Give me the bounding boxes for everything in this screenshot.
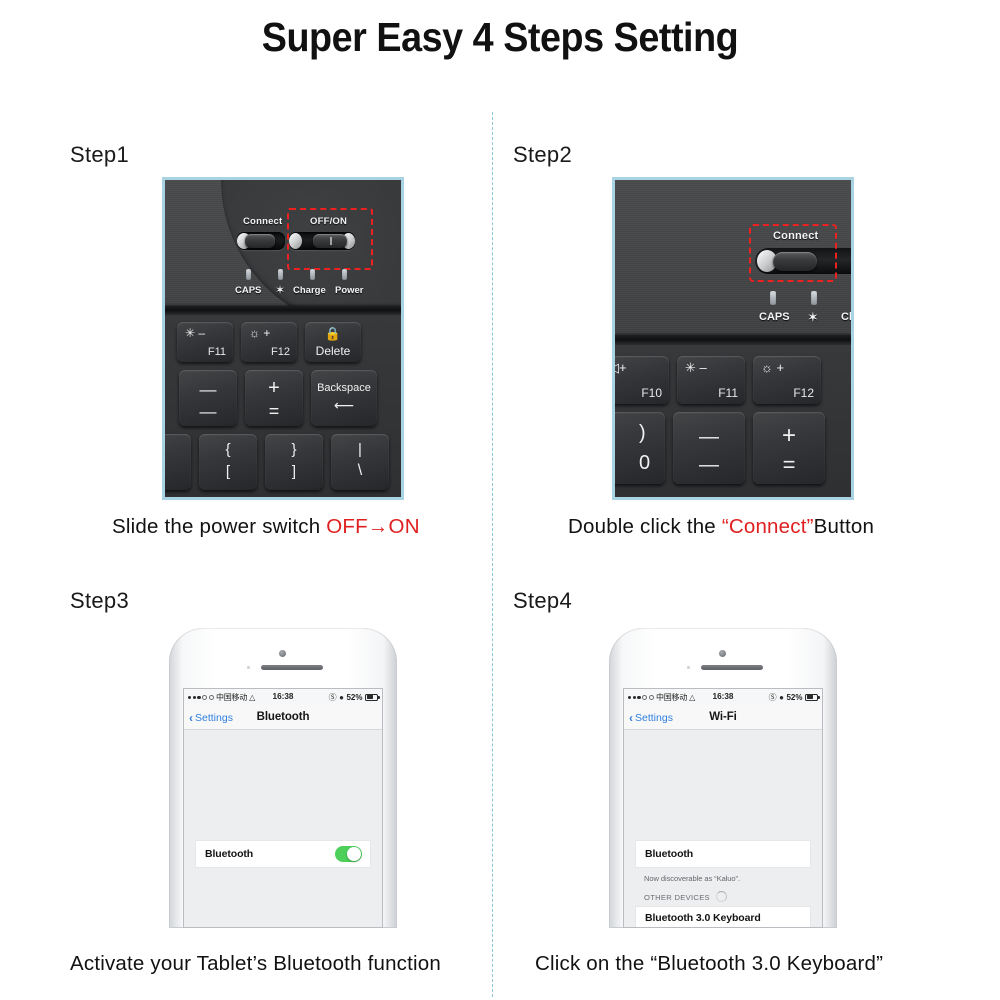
backslash-key[interactable]: | \ [331, 434, 389, 490]
equals-key[interactable]: + = [753, 412, 825, 484]
brightness-up-key-icon: ☼ + [761, 360, 784, 375]
step2-caption: Double click the “Connect”Button [568, 515, 874, 539]
caps-led [770, 291, 776, 305]
front-camera-icon [279, 650, 286, 657]
lock-icon: 🔒 [305, 326, 361, 342]
power-led-label: Power [335, 285, 364, 296]
proximity-sensor-icon [247, 666, 250, 669]
caps-led [246, 269, 251, 280]
equals-key[interactable]: + = [245, 370, 303, 426]
nav-bar: ‹ Settings Wi-Fi [624, 705, 822, 730]
brightness-down-key[interactable]: ✳ – F11 [177, 322, 233, 362]
step2-label: Step2 [513, 142, 572, 168]
volume-up-key-fn: F10 [641, 386, 662, 400]
keyboard-surface: Connect CAPS ✶ Cha ◁+ F10 ✳ – F11 ☼ + F1… [615, 180, 851, 497]
bracket-left-key-top: { [199, 441, 257, 458]
brightness-down-key[interactable]: ✳ – F11 [677, 356, 745, 404]
volume-up-key-icon: ◁+ [615, 360, 627, 376]
nav-title: Bluetooth [184, 711, 382, 723]
battery-percent: 52% [786, 693, 802, 702]
nav-bar: ‹ Settings Bluetooth [184, 705, 382, 730]
zero-key-bottom: 0 [639, 452, 650, 475]
power-switch-label: OFF/ON [310, 216, 347, 227]
status-bar-right: Ⓢ ● 52% [329, 692, 378, 703]
earpiece-speaker [261, 665, 323, 670]
volume-up-key[interactable]: ◁+ F10 [615, 356, 669, 404]
delete-key-label: Delete [305, 344, 361, 358]
step3-caption: Activate your Tablet’s Bluetooth functio… [70, 952, 441, 976]
step1-caption: Slide the power switch OFF→ON [112, 515, 420, 539]
power-switch-cap-left [289, 233, 302, 249]
status-bar: 中国移动 △ 16:38 Ⓢ ● 52% [624, 689, 822, 706]
vertical-divider [492, 112, 493, 997]
step2-caption-prefix: Double click the [568, 515, 722, 538]
step4-caption: Click on the “Bluetooth 3.0 Keyboard” [535, 952, 883, 976]
brightness-up-key-fn: F12 [793, 386, 814, 400]
step1-caption-highlight: OFF→ON [326, 515, 419, 538]
loading-spinner-icon [716, 891, 727, 902]
alarm-icon: ● [339, 693, 344, 702]
battery-icon [365, 694, 378, 701]
connect-switch-label: Connect [243, 216, 282, 227]
caps-led-label: CAPS [235, 285, 261, 296]
power-switch-knob[interactable] [313, 234, 347, 248]
minus-key[interactable]: — — [179, 370, 237, 426]
keyboard-surface: Connect OFF/ON CAPS ✶ Charge Power ✳ – F… [165, 180, 401, 497]
minus-key-top: — [179, 380, 237, 400]
step1-caption-prefix: Slide the power switch [112, 515, 326, 538]
rotation-lock-icon: Ⓢ [329, 692, 337, 703]
connect-switch-knob[interactable] [773, 252, 817, 271]
bluetooth-keyboard-row[interactable]: Bluetooth 3.0 Keyboard [636, 907, 810, 928]
step3-label: Step3 [70, 588, 129, 614]
brightness-down-key-fn: F11 [718, 386, 738, 400]
backspace-arrow-icon: ⟵ [311, 397, 377, 414]
backslash-key-top: | [331, 441, 389, 458]
step2-keyboard-photo: Connect CAPS ✶ Cha ◁+ F10 ✳ – F11 ☼ + F1… [612, 177, 854, 500]
brightness-down-key-fn: F11 [208, 346, 226, 358]
connect-switch-label: Connect [773, 230, 818, 242]
bluetooth-row-label: Bluetooth [636, 848, 693, 860]
minus-key-bottom: — [179, 402, 237, 422]
front-camera-icon [719, 650, 726, 657]
bluetooth-row[interactable]: Bluetooth [636, 841, 810, 867]
nav-title: Wi-Fi [624, 711, 822, 723]
proximity-sensor-icon [687, 666, 690, 669]
bracket-right-key[interactable]: } ] [265, 434, 323, 490]
brightness-down-key-icon: ✳ – [185, 326, 205, 340]
charge-led [310, 269, 315, 280]
keyboard-seam [165, 306, 401, 315]
bluetooth-toggle[interactable] [335, 846, 362, 862]
brightness-up-key-icon: ☼ + [249, 326, 270, 340]
zero-key[interactable]: ) 0 [615, 412, 665, 484]
phone-bezel [169, 628, 397, 663]
brightness-up-key[interactable]: ☼ + F12 [241, 322, 297, 362]
status-bar-right: Ⓢ ● 52% [769, 692, 818, 703]
minus-key-top: — [673, 426, 745, 449]
minus-key[interactable]: — — [673, 412, 745, 484]
bluetooth-row-label: Bluetooth [196, 848, 253, 860]
page-title: Super Easy 4 Steps Setting [40, 14, 960, 61]
equals-key-top: + [753, 422, 825, 450]
minus-key-bottom: — [673, 454, 745, 477]
bracket-right-key-bottom: ] [265, 463, 323, 480]
bluetooth-led-icon: ✶ [275, 283, 285, 297]
bluetooth-led-icon: ✶ [807, 309, 819, 326]
step3-phone: 中国移动 △ 16:38 Ⓢ ● 52% ‹ Settings Bluetoot… [169, 628, 397, 928]
earpiece-speaker [701, 665, 763, 670]
other-devices-header: OTHER DEVICES [644, 893, 710, 902]
step3-screen: 中国移动 △ 16:38 Ⓢ ● 52% ‹ Settings Bluetoot… [183, 688, 383, 928]
bluetooth-keyboard-row-label: Bluetooth 3.0 Keyboard [636, 912, 761, 924]
rotation-lock-icon: Ⓢ [769, 692, 777, 703]
bluetooth-led [811, 291, 817, 305]
p-key[interactable] [165, 434, 191, 490]
bracket-left-key-bottom: [ [199, 463, 257, 480]
keyboard-seam [615, 335, 851, 345]
power-led [342, 269, 347, 280]
zero-key-top: ) [639, 422, 646, 445]
status-bar: 中国移动 △ 16:38 Ⓢ ● 52% [184, 689, 382, 706]
battery-percent: 52% [346, 693, 362, 702]
backslash-key-bottom: \ [331, 462, 389, 480]
backspace-key-label: Backspace [311, 382, 377, 394]
caps-led-label: CAPS [759, 311, 790, 323]
battery-icon [805, 694, 818, 701]
equals-key-bottom: = [245, 401, 303, 422]
backspace-key[interactable]: Backspace ⟵ [311, 370, 377, 426]
charge-led-label: Charge [293, 285, 326, 296]
step1-label: Step1 [70, 142, 129, 168]
alarm-icon: ● [779, 693, 784, 702]
charge-led-label: Cha [841, 311, 851, 323]
equals-key-bottom: = [753, 452, 825, 478]
phone-bezel [609, 628, 837, 663]
step2-caption-highlight: “Connect” [722, 515, 814, 538]
discoverable-text: Now discoverable as “Kaluo”. [644, 874, 740, 883]
bluetooth-led [278, 269, 283, 280]
step4-screen: 中国移动 △ 16:38 Ⓢ ● 52% ‹ Settings Wi-Fi Bl… [623, 688, 823, 928]
brightness-up-key[interactable]: ☼ + F12 [753, 356, 821, 404]
step2-caption-suffix: Button [814, 515, 874, 538]
bracket-left-key[interactable]: { [ [199, 434, 257, 490]
step1-keyboard-photo: Connect OFF/ON CAPS ✶ Charge Power ✳ – F… [162, 177, 404, 500]
delete-key[interactable]: 🔒 Delete [305, 322, 361, 362]
connect-switch-knob[interactable] [245, 234, 275, 248]
step4-label: Step4 [513, 588, 572, 614]
equals-key-top: + [245, 377, 303, 400]
bracket-right-key-top: } [265, 441, 323, 458]
brightness-up-key-fn: F12 [271, 346, 290, 358]
brightness-down-key-icon: ✳ – [685, 360, 707, 376]
bluetooth-row[interactable]: Bluetooth [196, 841, 370, 867]
step4-phone: 中国移动 △ 16:38 Ⓢ ● 52% ‹ Settings Wi-Fi Bl… [609, 628, 837, 928]
